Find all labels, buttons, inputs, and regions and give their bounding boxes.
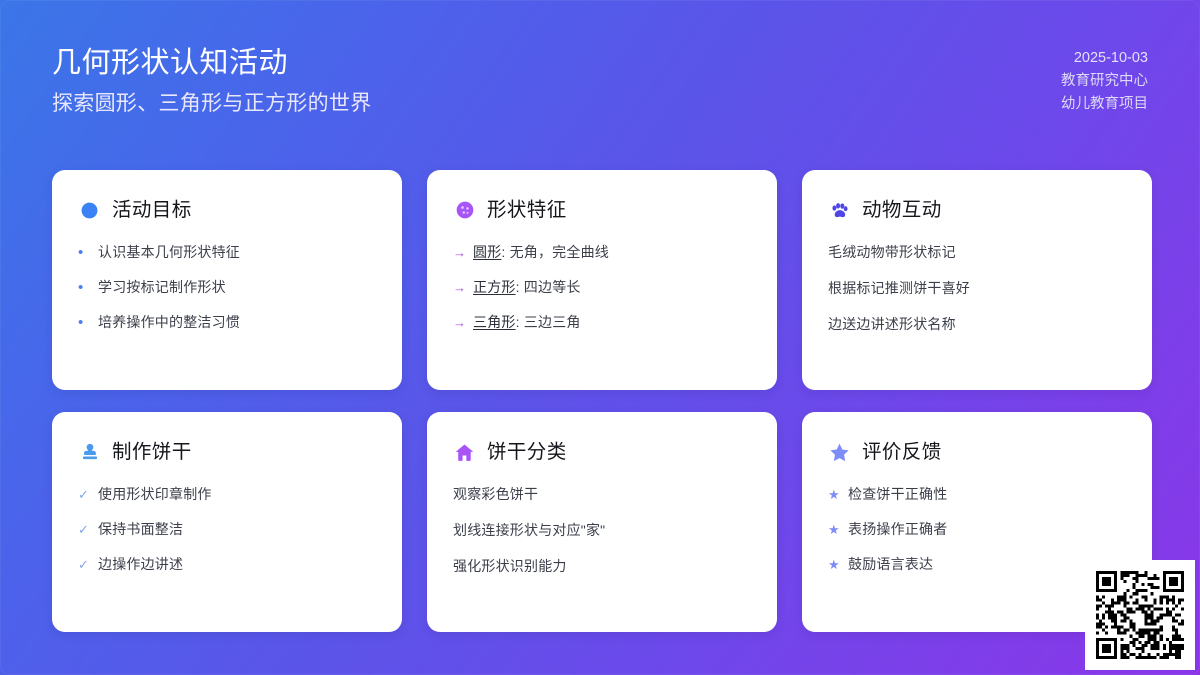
list-item-text: 检查饼干正确性 xyxy=(848,484,1126,505)
list-marker-star-icon: ★ xyxy=(828,519,839,540)
list-marker-dot-icon: • xyxy=(78,312,89,333)
card-title: 评价反馈 xyxy=(862,440,942,464)
card-title: 制作饼干 xyxy=(112,440,192,464)
list-item: ★表扬操作正确者 xyxy=(828,519,1126,540)
list-item: •学习按标记制作形状 xyxy=(78,277,376,298)
card-2[interactable]: 形状特征→圆形: 无角，完全曲线→正方形: 四边等长→三角形: 三边三角 xyxy=(427,170,777,390)
list-item-text: 认识基本几何形状特征 xyxy=(98,242,376,263)
page-subtitle: 探索圆形、三角形与正方形的世界 xyxy=(52,89,372,119)
cards-grid: 活动目标•认识基本几何形状特征•学习按标记制作形状•培养操作中的整洁习惯形状特征… xyxy=(52,170,1152,632)
list-item-text: 使用形状印章制作 xyxy=(98,484,376,505)
header-meta: 2025-10-03 教育研究中心 幼儿教育项目 xyxy=(1061,44,1148,116)
list-marker-check-icon: ✓ xyxy=(78,519,89,540)
page-title: 几何形状认知活动 xyxy=(52,44,372,82)
card-title: 活动目标 xyxy=(112,198,192,222)
qr-code xyxy=(1096,571,1184,659)
paw-icon xyxy=(828,199,851,222)
card-1[interactable]: 活动目标•认识基本几何形状特征•学习按标记制作形状•培养操作中的整洁习惯 xyxy=(52,170,402,390)
list-marker-arrow-icon: → xyxy=(453,277,464,298)
blue-circle-icon xyxy=(78,199,101,222)
list-marker-arrow-icon: → xyxy=(453,312,464,333)
meta-project: 幼儿教育项目 xyxy=(1061,93,1148,116)
card-list: ✓使用形状印章制作✓保持书面整洁✓边操作边讲述 xyxy=(78,484,376,575)
list-marker-dot-icon: • xyxy=(78,242,89,263)
list-item: ★检查饼干正确性 xyxy=(828,484,1126,505)
card-list: →圆形: 无角，完全曲线→正方形: 四边等长→三角形: 三边三角 xyxy=(453,242,751,333)
list-item-detail: : 无角，完全曲线 xyxy=(501,244,609,260)
list-marker-arrow-icon: → xyxy=(453,242,464,263)
cookie-icon xyxy=(453,199,476,222)
list-item: →三角形: 三边三角 xyxy=(453,312,751,333)
list-item-text: 边操作边讲述 xyxy=(98,554,376,575)
list-item: •培养操作中的整洁习惯 xyxy=(78,312,376,333)
list-item-detail: : 四边等长 xyxy=(516,279,581,295)
card-list: •认识基本几何形状特征•学习按标记制作形状•培养操作中的整洁习惯 xyxy=(78,242,376,333)
list-item: →圆形: 无角，完全曲线 xyxy=(453,242,751,263)
list-item: 边送边讲述形状名称 xyxy=(828,314,1126,335)
card-list: 毛绒动物带形状标记根据标记推测饼干喜好边送边讲述形状名称 xyxy=(828,242,1126,335)
card-header: 动物互动 xyxy=(828,198,1126,222)
title-block: 几何形状认知活动 探索圆形、三角形与正方形的世界 xyxy=(52,44,372,119)
card-3[interactable]: 动物互动毛绒动物带形状标记根据标记推测饼干喜好边送边讲述形状名称 xyxy=(802,170,1152,390)
card-title: 饼干分类 xyxy=(487,440,567,464)
list-item-detail: : 三边三角 xyxy=(516,314,581,330)
slide-root: 几何形状认知活动 探索圆形、三角形与正方形的世界 2025-10-03 教育研究… xyxy=(0,0,1200,675)
star-icon xyxy=(828,441,851,464)
list-item-keyword: 圆形 xyxy=(473,244,501,260)
card-header: 制作饼干 xyxy=(78,440,376,464)
card-header: 形状特征 xyxy=(453,198,751,222)
card-4[interactable]: 制作饼干✓使用形状印章制作✓保持书面整洁✓边操作边讲述 xyxy=(52,412,402,632)
card-list: 观察彩色饼干划线连接形状与对应"家"强化形状识别能力 xyxy=(453,484,751,577)
list-marker-dot-icon: • xyxy=(78,277,89,298)
meta-organization: 教育研究中心 xyxy=(1061,70,1148,93)
card-header: 活动目标 xyxy=(78,198,376,222)
qr-code-panel[interactable] xyxy=(1085,560,1195,670)
card-5[interactable]: 饼干分类观察彩色饼干划线连接形状与对应"家"强化形状识别能力 xyxy=(427,412,777,632)
list-marker-check-icon: ✓ xyxy=(78,484,89,505)
meta-date: 2025-10-03 xyxy=(1061,47,1148,70)
list-item: 强化形状识别能力 xyxy=(453,556,751,577)
list-marker-star-icon: ★ xyxy=(828,554,839,575)
list-item-text: 表扬操作正确者 xyxy=(848,519,1126,540)
card-header: 饼干分类 xyxy=(453,440,751,464)
list-item-text: 正方形: 四边等长 xyxy=(473,277,751,298)
list-item: →正方形: 四边等长 xyxy=(453,277,751,298)
list-marker-star-icon: ★ xyxy=(828,484,839,505)
list-item: ★鼓励语言表达 xyxy=(828,554,1126,575)
card-title: 形状特征 xyxy=(487,198,567,222)
list-item: •认识基本几何形状特征 xyxy=(78,242,376,263)
list-item-text: 圆形: 无角，完全曲线 xyxy=(473,242,751,263)
list-item-text: 培养操作中的整洁习惯 xyxy=(98,312,376,333)
list-item-keyword: 正方形 xyxy=(473,279,516,295)
list-item-text: 三角形: 三边三角 xyxy=(473,312,751,333)
list-item: ✓使用形状印章制作 xyxy=(78,484,376,505)
list-item: 划线连接形状与对应"家" xyxy=(453,520,751,541)
list-item-text: 学习按标记制作形状 xyxy=(98,277,376,298)
list-item: 根据标记推测饼干喜好 xyxy=(828,278,1126,299)
home-icon xyxy=(453,441,476,464)
card-title: 动物互动 xyxy=(862,198,942,222)
list-item: 毛绒动物带形状标记 xyxy=(828,242,1126,263)
list-item: 观察彩色饼干 xyxy=(453,484,751,505)
list-marker-check-icon: ✓ xyxy=(78,554,89,575)
slide-header: 几何形状认知活动 探索圆形、三角形与正方形的世界 2025-10-03 教育研究… xyxy=(52,44,1148,119)
list-item-keyword: 三角形 xyxy=(473,314,516,330)
stamp-icon xyxy=(78,441,101,464)
list-item-text: 保持书面整洁 xyxy=(98,519,376,540)
list-item: ✓保持书面整洁 xyxy=(78,519,376,540)
list-item: ✓边操作边讲述 xyxy=(78,554,376,575)
card-header: 评价反馈 xyxy=(828,440,1126,464)
card-list: ★检查饼干正确性★表扬操作正确者★鼓励语言表达 xyxy=(828,484,1126,575)
